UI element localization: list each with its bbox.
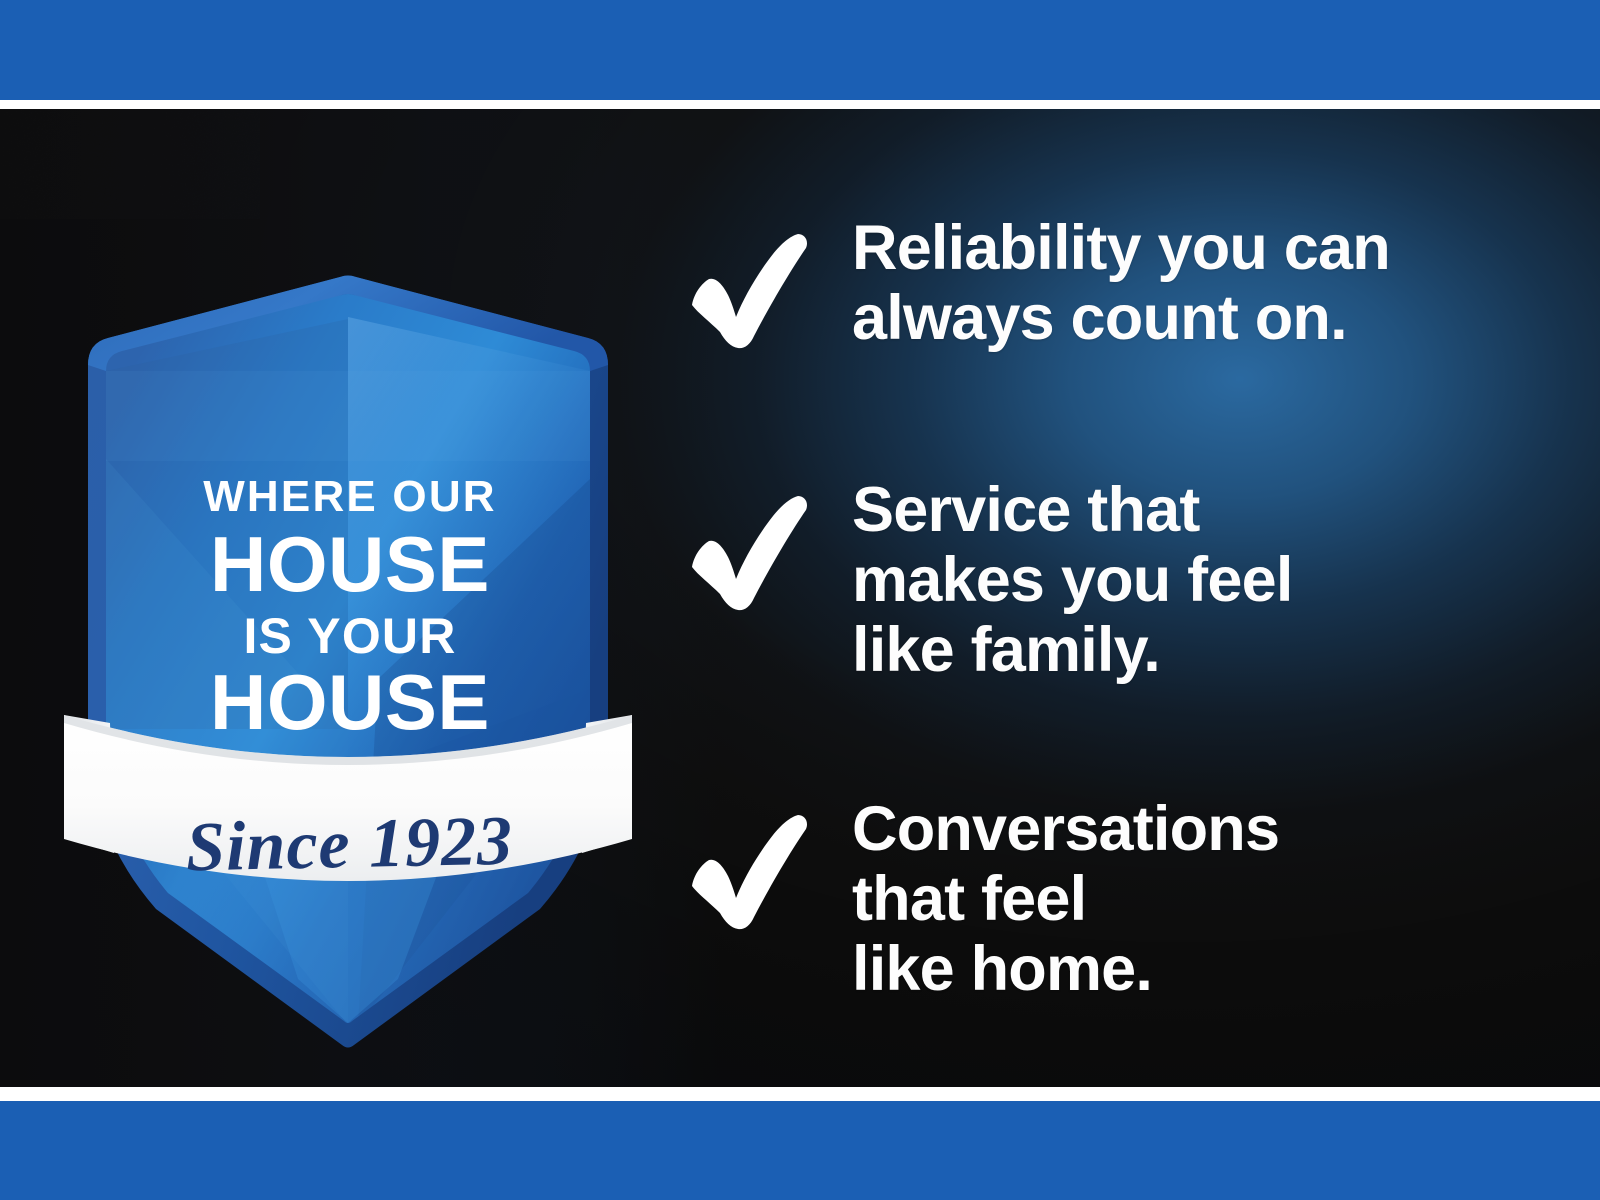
benefit-item-service: Service that makes you feel like family. [668, 475, 1568, 686]
top-brand-bar [0, 0, 1600, 100]
benefit-list: Reliability you can always count on. Ser… [668, 213, 1568, 1004]
promo-graphic: WHERE OUR HOUSE IS YOUR HOUSE Sin [0, 0, 1600, 1200]
shield-emblem: WHERE OUR HOUSE IS YOUR HOUSE Sin [58, 259, 638, 1049]
bottom-brand-bar [0, 1101, 1600, 1200]
content-stage: WHERE OUR HOUSE IS YOUR HOUSE Sin [0, 109, 1600, 1087]
benefit-item-conversations: Conversations that feel like home. [668, 794, 1568, 1005]
checkmark-icon [668, 802, 818, 932]
bottom-divider [0, 1087, 1600, 1101]
checkmark-icon [668, 221, 818, 351]
ribbon-label: Since 1923 [185, 803, 513, 887]
checkmark-icon [668, 483, 818, 613]
top-divider [0, 100, 1600, 109]
benefit-item-reliability: Reliability you can always count on. [668, 213, 1568, 363]
